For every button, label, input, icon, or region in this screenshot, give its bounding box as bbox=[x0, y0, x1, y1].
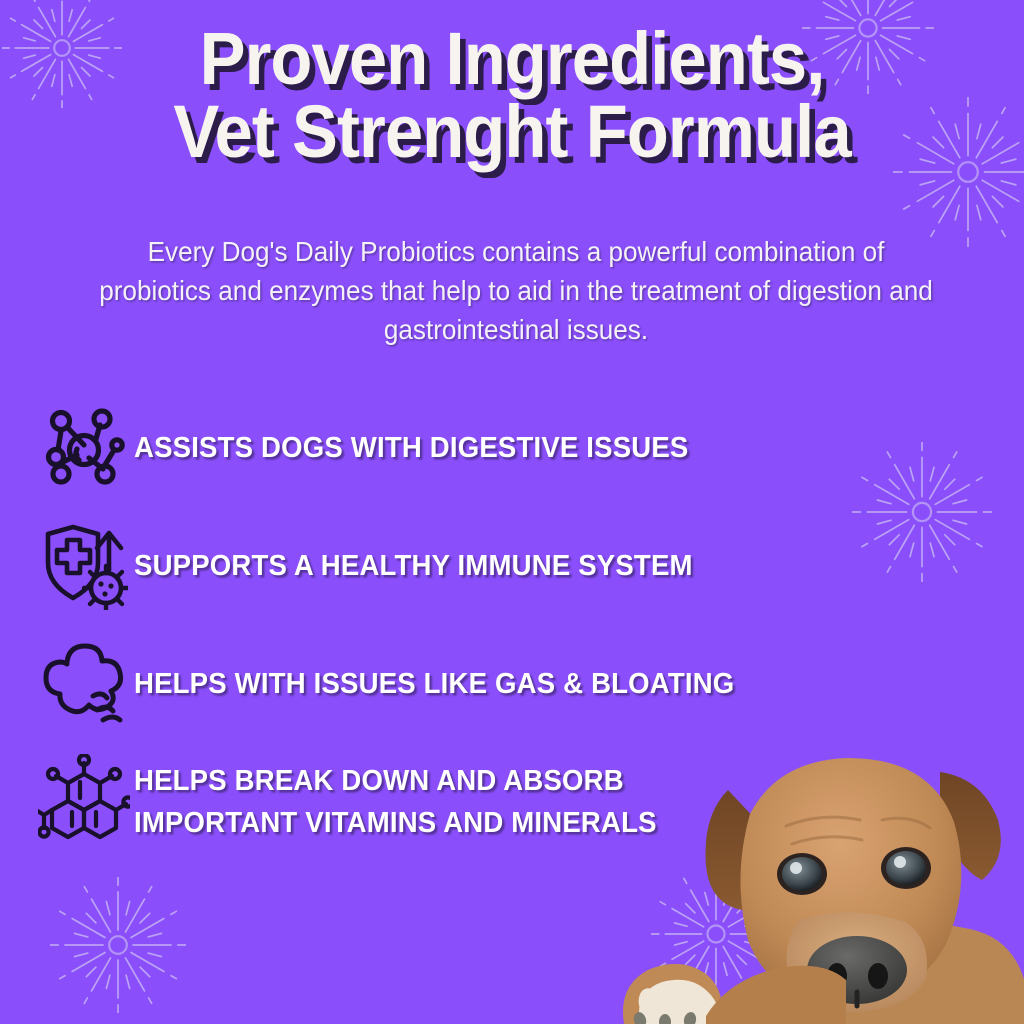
headline-line-2: Vet Strenght Formula bbox=[36, 95, 988, 168]
gas-cloud-icon bbox=[34, 634, 134, 734]
list-item: HELPS WITH ISSUES LIKE GAS & BLOATING bbox=[34, 634, 874, 734]
vitamin-molecule-icon bbox=[34, 752, 134, 852]
list-item-label: SUPPORTS A HEALTHY IMMUNE SYSTEM bbox=[134, 545, 693, 587]
list-item: SUPPORTS A HEALTHY IMMUNE SYSTEM bbox=[34, 516, 874, 616]
probiotic-molecule-icon bbox=[34, 398, 134, 498]
list-item: ASSISTS DOGS WITH DIGESTIVE ISSUES bbox=[34, 398, 874, 498]
list-item-label: HELPS BREAK DOWN AND ABSORB IMPORTANT VI… bbox=[134, 760, 657, 844]
list-item-label: ASSISTS DOGS WITH DIGESTIVE ISSUES bbox=[134, 427, 688, 469]
list-item-label: HELPS WITH ISSUES LIKE GAS & BLOATING bbox=[134, 663, 734, 705]
page-title: Proven Ingredients, Vet Strenght Formula bbox=[0, 22, 1024, 169]
intro-paragraph: Every Dog's Daily Probiotics contains a … bbox=[98, 232, 934, 349]
promo-poster: Proven Ingredients, Vet Strenght Formula… bbox=[0, 0, 1024, 1024]
starburst-bottom-left-icon bbox=[50, 877, 186, 1013]
headline-line-1: Proven Ingredients, bbox=[36, 22, 988, 95]
dog-photo bbox=[610, 754, 1024, 1024]
shield-immune-icon bbox=[34, 516, 134, 616]
